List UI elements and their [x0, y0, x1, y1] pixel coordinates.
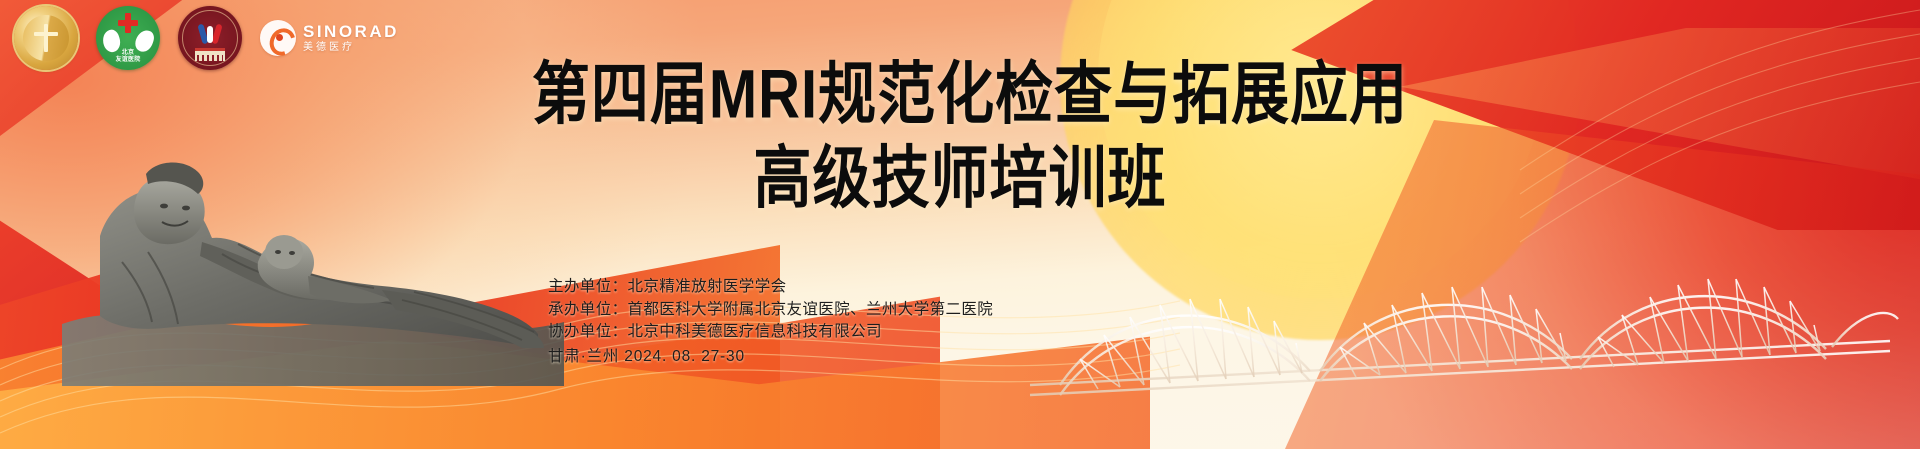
- gold-medallion-logo: [14, 6, 78, 70]
- venue-date-row: 甘肃·兰州 2024. 08. 27-30: [548, 346, 993, 369]
- sinorad-mark-icon: [260, 20, 296, 56]
- yellow-river-mother-sculpture: [52, 86, 572, 386]
- conference-banner: 北京 友谊医院 SINORAD 美德医疗 第四届MRI规范化检查与拓展应用 高级…: [0, 0, 1920, 449]
- gold-seal-icon: [23, 15, 69, 61]
- zhongshan-bridge-illustration: [1020, 189, 1900, 449]
- beijing-friendship-hospital-logo: 北京 友谊医院: [96, 6, 160, 70]
- medical-society-logo: [178, 6, 242, 70]
- society-emblem-icon: [197, 24, 223, 46]
- event-info-block: 主办单位：北京精准放射医学学会 承办单位：首都医科大学附属北京友谊医院、兰州大学…: [548, 276, 993, 368]
- sinorad-name: SINORAD: [303, 23, 399, 40]
- organizer-row: 主办单位：北京精准放射医学学会: [548, 276, 993, 299]
- host-row: 承办单位：首都医科大学附属北京友谊医院、兰州大学第二医院: [548, 299, 993, 322]
- sinorad-subtext: 美德医疗: [303, 43, 399, 53]
- logo-group: 北京 友谊医院 SINORAD 美德医疗: [14, 6, 399, 70]
- sinorad-wordmark: SINORAD 美德医疗: [303, 23, 399, 53]
- hospital-logo-text: 北京 友谊医院: [96, 50, 160, 64]
- co-organizer-row: 协办单位：北京中科美德医疗信息科技有限公司: [548, 321, 993, 344]
- sinorad-logo: SINORAD 美德医疗: [260, 6, 399, 70]
- red-cross-icon: [118, 13, 138, 33]
- building-icon: [195, 48, 225, 61]
